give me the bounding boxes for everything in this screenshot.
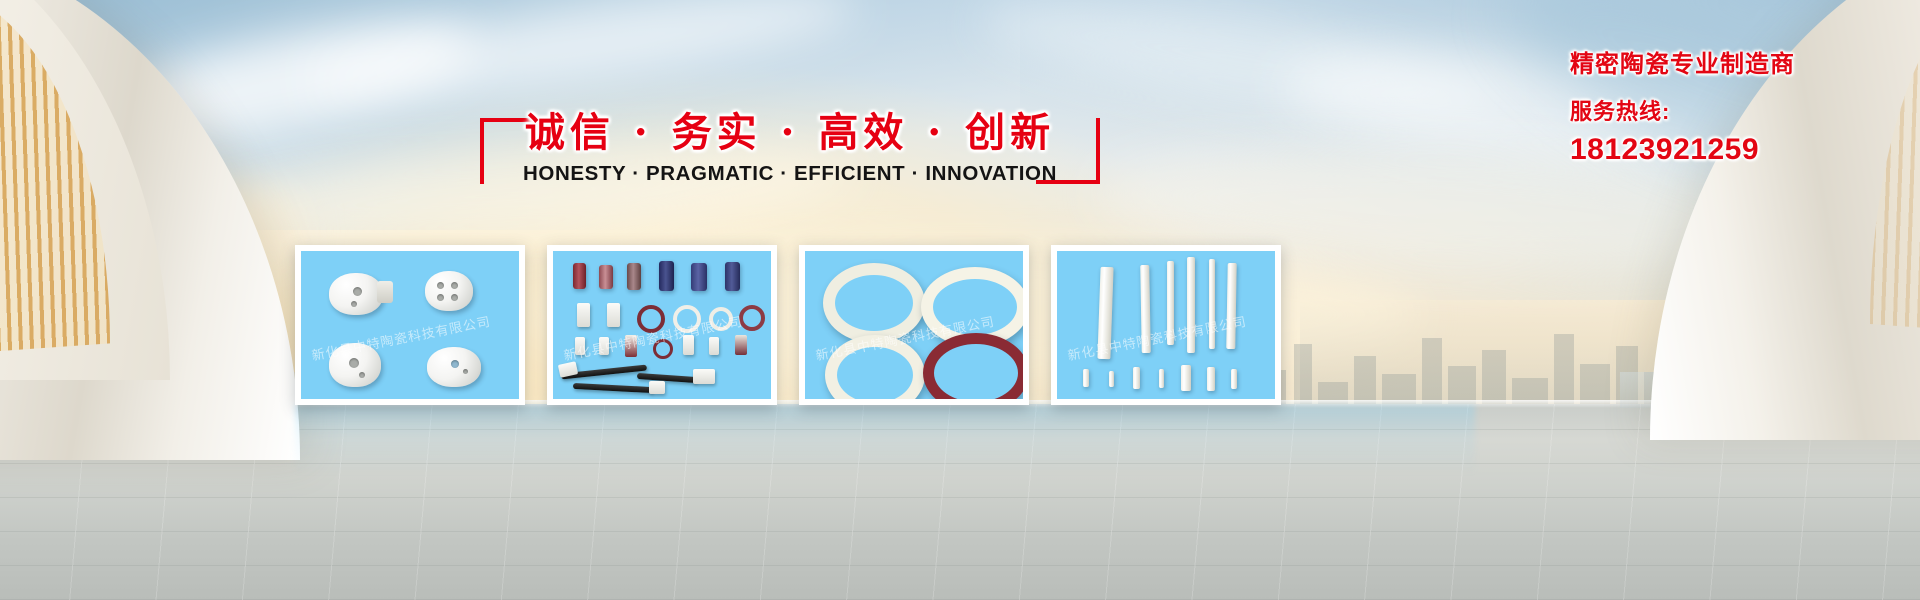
hotline-label: 服务热线: <box>1570 100 1900 124</box>
product-panel-tubes[interactable]: 新化县中特陶瓷科技有限公司 <box>547 245 777 405</box>
panel-watermark: 新化县中特陶瓷科技有限公司 <box>1066 311 1248 364</box>
hero-banner: 诚信 · 务实 · 高效 · 创新 HONESTY · PRAGMATIC · … <box>0 0 1920 600</box>
slogan-block: 诚信 · 务实 · 高效 · 创新 HONESTY · PRAGMATIC · … <box>480 100 1100 205</box>
slogan-english: HONESTY · PRAGMATIC · EFFICIENT · INNOVA… <box>480 162 1100 186</box>
panels-reflection <box>295 405 1475 475</box>
wooden-slats-right <box>1870 0 1920 336</box>
company-headline: 精密陶瓷专业制造商 <box>1570 52 1900 78</box>
product-panel-rods[interactable]: 新化县中特陶瓷科技有限公司 <box>1051 245 1281 405</box>
product-panels: 新化县中特陶瓷科技有限公司 <box>295 245 1475 405</box>
product-panel-insulator-caps[interactable]: 新化县中特陶瓷科技有限公司 <box>295 245 525 405</box>
hotline-number[interactable]: 18123921259 <box>1570 133 1900 166</box>
contact-block: 精密陶瓷专业制造商 服务热线: 18123921259 <box>1570 52 1900 166</box>
product-panel-seal-rings[interactable]: 新化县中特陶瓷科技有限公司 <box>799 245 1029 405</box>
slogan-chinese: 诚信 · 务实 · 高效 · 创新 <box>480 100 1100 158</box>
